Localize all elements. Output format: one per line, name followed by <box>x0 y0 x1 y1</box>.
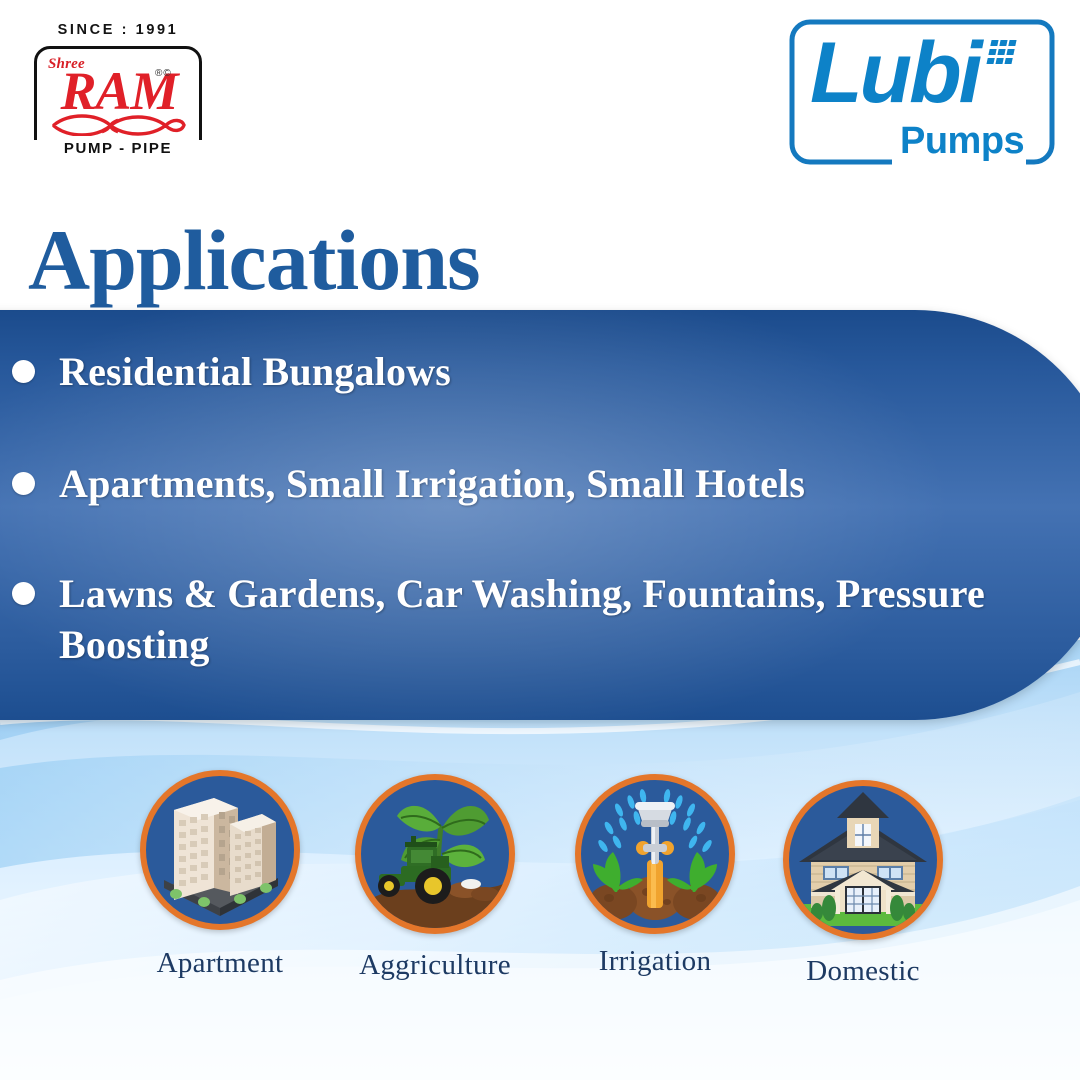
bullet-dot-icon <box>12 472 35 495</box>
bullet-text: Apartments, Small Irrigation, Small Hote… <box>59 458 805 509</box>
application-item-apartment[interactable]: Apartment <box>105 770 335 980</box>
application-label: Irrigation <box>540 944 770 978</box>
poster-canvas: SINCE : 1991 Shree RAM ®© PUMP - PIPE Lu… <box>0 0 1080 1080</box>
application-label: Apartment <box>105 946 335 980</box>
bullet-dot-icon <box>12 360 35 383</box>
shree-ram-logo: SINCE : 1991 Shree RAM ®© PUMP - PIPE <box>20 22 216 164</box>
list-item: Lawns & Gardens, Car Washing, Fountains,… <box>12 568 1002 670</box>
since-text: SINCE : 1991 <box>20 22 216 38</box>
list-item: Residential Bungalows <box>12 346 451 397</box>
lubi-grid-dots-icon <box>986 38 1026 70</box>
application-label: Domestic <box>748 954 978 988</box>
bullet-text: Residential Bungalows <box>59 346 451 397</box>
sprinkler-icon <box>575 774 735 934</box>
tractor-plant-icon <box>355 774 515 934</box>
bullet-text: Lawns & Gardens, Car Washing, Fountains,… <box>59 568 1002 670</box>
applications-panel: Residential Bungalows Apartments, Small … <box>0 310 1080 720</box>
house-icon <box>783 780 943 940</box>
bullet-dot-icon <box>12 582 35 605</box>
application-icons-row: Apartment <box>0 770 1080 1070</box>
lubi-wordmark: Lubi <box>810 30 980 116</box>
application-label: Aggriculture <box>320 948 550 982</box>
lubi-pumps-logo: Lubi Pumps <box>788 18 1056 166</box>
page-title: Applications <box>28 214 480 306</box>
application-item-aggriculture[interactable]: Aggriculture <box>320 774 550 982</box>
apartment-buildings-icon <box>140 770 300 930</box>
lubi-pumps-subtext: Pumps <box>900 122 1024 160</box>
list-item: Apartments, Small Irrigation, Small Hote… <box>12 458 805 509</box>
pump-pipe-tagline: PUMP - PIPE <box>34 140 202 157</box>
application-item-domestic[interactable]: Domestic <box>748 780 978 988</box>
applications-panel-content: Residential Bungalows Apartments, Small … <box>0 310 1040 720</box>
ram-swirl-flourish <box>50 114 188 136</box>
trademark-mark: ®© <box>155 68 172 79</box>
application-item-irrigation[interactable]: Irrigation <box>540 774 770 978</box>
